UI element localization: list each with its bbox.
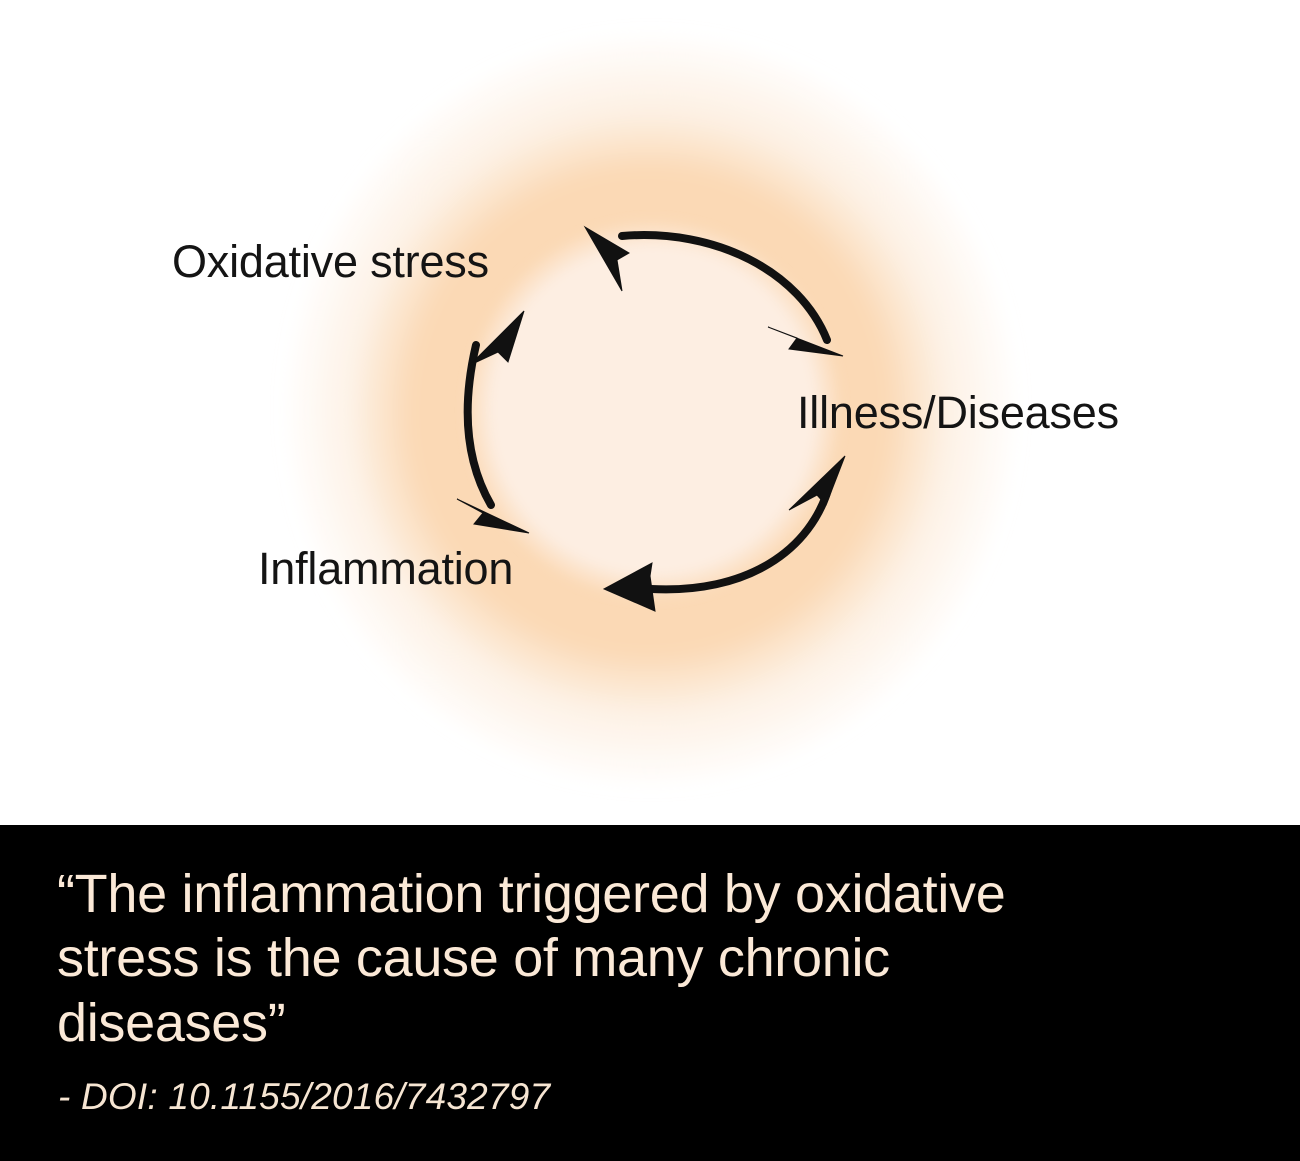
node-label-illness-diseases: Illness/Diseases bbox=[797, 389, 1119, 436]
quote-panel: “The inflammation triggered by oxidative… bbox=[0, 825, 1300, 1161]
arrow-stress-to-inflammation bbox=[457, 311, 529, 533]
quote-attribution: - DOI: 10.1155/2016/7432797 bbox=[58, 1076, 550, 1118]
node-label-inflammation: Inflammation bbox=[258, 545, 513, 592]
diagram-panel: Oxidative stress Illness/Diseases Inflam… bbox=[0, 0, 1300, 825]
node-label-oxidative-stress: Oxidative stress bbox=[172, 238, 489, 285]
quote-text: “The inflammation triggered by oxidative… bbox=[57, 862, 1177, 1055]
arrow-stress-to-illness bbox=[585, 227, 843, 356]
arrow-inflammation-to-illness bbox=[604, 456, 845, 611]
